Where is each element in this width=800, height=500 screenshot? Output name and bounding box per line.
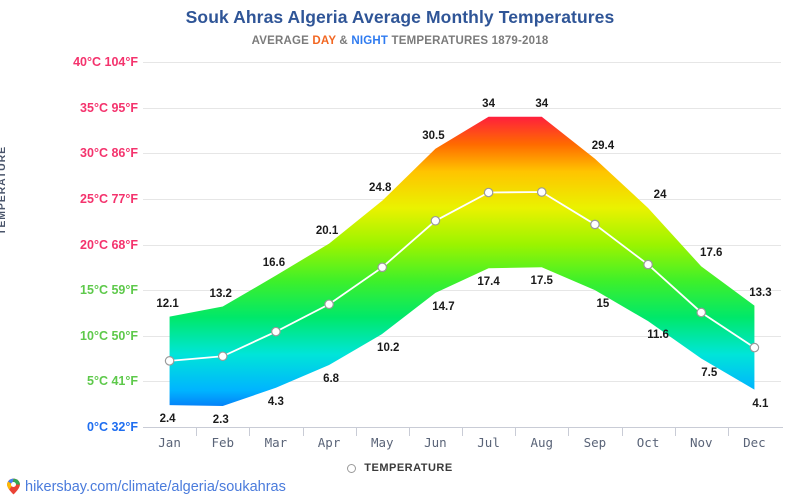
y-axis-tick-10c: 10°C 50°F	[18, 329, 138, 343]
mean-temperature-marker[interactable]	[591, 220, 599, 228]
x-axis-tick	[515, 427, 516, 436]
mean-temperature-marker[interactable]	[538, 188, 546, 196]
y-axis-tick-40c: 40°C 104°F	[18, 55, 138, 69]
mean-temperature-marker[interactable]	[484, 188, 492, 196]
x-axis-label-jun: Jun	[409, 427, 462, 457]
mean-temperature-marker[interactable]	[644, 260, 652, 268]
legend-label: TEMPERATURE	[364, 462, 452, 474]
x-axis-tick	[249, 427, 250, 436]
night-temperature-label-jan: 2.4	[160, 413, 176, 425]
day-temperature-label-apr: 20.1	[316, 225, 338, 237]
x-axis: JanFebMarAprMayJunJulAugSepOctNovDec	[143, 427, 783, 457]
source-footer[interactable]: hikersbay.com/climate/algeria/soukahras	[6, 478, 286, 495]
night-temperature-label-may: 10.2	[377, 342, 399, 354]
climate-chart-page: Souk Ahras Algeria Average Monthly Tempe…	[0, 0, 800, 500]
y-axis-tick-25c: 25°C 77°F	[18, 192, 138, 206]
subtitle-amp: &	[336, 35, 351, 47]
chart-title: Souk Ahras Algeria Average Monthly Tempe…	[0, 7, 800, 28]
x-axis-label-jan: Jan	[143, 427, 196, 457]
day-temperature-label-jan: 12.1	[156, 298, 178, 310]
day-temperature-label-sep: 29.4	[592, 140, 614, 152]
night-temperature-label-sep: 15	[597, 298, 610, 310]
night-temperature-label-jun: 14.7	[432, 301, 454, 313]
y-axis-tick-20c: 20°C 68°F	[18, 238, 138, 252]
subtitle-prefix: AVERAGE	[252, 35, 313, 47]
day-temperature-label-jun: 30.5	[422, 130, 444, 142]
source-url[interactable]: hikersbay.com/climate/algeria/soukahras	[25, 479, 286, 495]
mean-temperature-marker[interactable]	[378, 263, 386, 271]
mean-temperature-marker[interactable]	[697, 308, 705, 316]
day-temperature-label-nov: 17.6	[700, 247, 722, 259]
mean-temperature-marker[interactable]	[165, 357, 173, 365]
y-axis-tick-35c: 35°C 95°F	[18, 101, 138, 115]
y-axis-title: TEMPERATURE	[0, 146, 8, 235]
x-axis-label-aug: Aug	[515, 427, 568, 457]
map-pin-icon	[6, 478, 21, 495]
day-temperature-label-dec: 13.3	[749, 287, 771, 299]
mean-temperature-marker[interactable]	[219, 352, 227, 360]
x-axis-tick	[303, 427, 304, 436]
night-temperature-label-nov: 7.5	[701, 367, 717, 379]
night-temperature-label-aug: 17.5	[531, 275, 553, 287]
chart-legend: TEMPERATURE	[0, 462, 800, 474]
temperature-range-band	[170, 117, 755, 406]
night-temperature-label-jul: 17.4	[477, 276, 499, 288]
temperature-band-chart	[143, 62, 781, 427]
mean-temperature-marker[interactable]	[325, 300, 333, 308]
day-temperature-label-aug: 34	[535, 98, 548, 110]
x-axis-label-mar: Mar	[249, 427, 302, 457]
plot-area: 12.113.216.620.124.830.5343429.42417.613…	[143, 62, 781, 427]
x-axis-label-apr: Apr	[303, 427, 356, 457]
mean-temperature-marker[interactable]	[272, 327, 280, 335]
y-axis-tick-5c: 5°C 41°F	[18, 374, 138, 388]
day-temperature-label-jul: 34	[482, 98, 495, 110]
x-axis-label-sep: Sep	[568, 427, 621, 457]
x-axis-label-may: May	[356, 427, 409, 457]
x-axis-tick	[622, 427, 623, 436]
x-axis-label-oct: Oct	[622, 427, 675, 457]
subtitle-night: NIGHT	[351, 35, 388, 47]
night-temperature-label-feb: 2.3	[213, 414, 229, 426]
x-axis-tick	[196, 427, 197, 436]
x-axis-label-nov: Nov	[675, 427, 728, 457]
x-axis-tick	[675, 427, 676, 436]
y-axis-tick-30c: 30°C 86°F	[18, 146, 138, 160]
x-axis-tick	[568, 427, 569, 436]
x-axis-label-feb: Feb	[196, 427, 249, 457]
y-axis-tick-0c: 0°C 32°F	[18, 420, 138, 434]
day-temperature-label-mar: 16.6	[263, 257, 285, 269]
day-temperature-label-oct: 24	[654, 189, 667, 201]
x-axis-tick	[356, 427, 357, 436]
subtitle-suffix: TEMPERATURES 1879-2018	[388, 35, 548, 47]
mean-temperature-marker[interactable]	[750, 343, 758, 351]
chart-subtitle: AVERAGE DAY & NIGHT TEMPERATURES 1879-20…	[0, 35, 800, 47]
x-axis-tick	[728, 427, 729, 436]
night-temperature-label-apr: 6.8	[323, 373, 339, 385]
y-axis-tick-15c: 15°C 59°F	[18, 283, 138, 297]
x-axis-label-jul: Jul	[462, 427, 515, 457]
night-temperature-label-dec: 4.1	[752, 398, 768, 410]
mean-temperature-marker[interactable]	[431, 217, 439, 225]
x-axis-tick	[462, 427, 463, 436]
day-temperature-label-feb: 13.2	[210, 288, 232, 300]
x-axis-tick	[409, 427, 410, 436]
x-axis-label-dec: Dec	[728, 427, 781, 457]
night-temperature-label-mar: 4.3	[268, 396, 284, 408]
day-temperature-label-may: 24.8	[369, 182, 391, 194]
circle-outline-icon	[347, 464, 356, 473]
subtitle-day: DAY	[312, 35, 336, 47]
night-temperature-label-oct: 11.6	[647, 329, 669, 341]
